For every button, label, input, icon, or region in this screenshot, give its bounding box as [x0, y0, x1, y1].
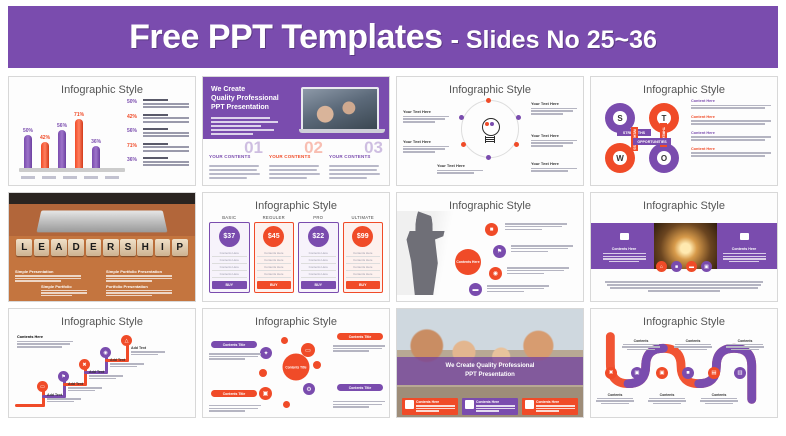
plan-price: $22	[308, 226, 329, 247]
plan-card: $99 Contents Here Contents Here Contents…	[343, 222, 384, 293]
info-card[interactable]: Contents Here	[522, 398, 578, 415]
page-title: Free PPT Templates- Slides No 25~36	[129, 18, 657, 57]
ring-dot	[514, 142, 519, 147]
timeline-icon-4: ■	[682, 367, 694, 379]
cart-icon	[740, 233, 749, 240]
legend-row: 71%	[127, 143, 189, 154]
text-block: Your Text Here	[531, 161, 577, 173]
column-number: 03	[364, 139, 383, 156]
legend-value: 42%	[127, 114, 140, 120]
column-number: 01	[244, 139, 263, 156]
legend-row: 50%	[127, 99, 189, 110]
legend-title: Content Here	[691, 115, 771, 119]
stair-label: Add Text	[131, 346, 165, 355]
ring-dot	[459, 115, 464, 120]
plan-name: PRO	[298, 215, 339, 220]
stair-icon-4: ◉	[100, 347, 111, 358]
shield-icon: ⚑	[493, 245, 506, 258]
bulb-base	[485, 136, 495, 143]
plan-price: $99	[352, 226, 373, 247]
pricing-table: BASIC $37 Contents Here Contents Here Co…	[209, 215, 383, 293]
stair-icon-1: ▭	[37, 381, 48, 392]
slide-thumbnail-radial-hub[interactable]: Infographic Style Contents Title ✦ ▭ ⚙ ▣…	[202, 308, 390, 418]
timeline-label: Contents	[647, 393, 687, 405]
content-columns: 01 YOUR CONTENTS 02 YOUR CONTENTS 03 YOU…	[209, 145, 383, 179]
content-title: Contents Here	[599, 247, 649, 251]
dice-letter: E	[86, 239, 102, 256]
timeline-label: Contents	[699, 393, 739, 405]
timeline-icon-6: ▥	[734, 367, 746, 379]
plan-feature: Contents Here	[257, 271, 292, 278]
legend-row: 56%	[127, 128, 189, 139]
calendar-icon: ■	[671, 261, 682, 272]
chart-category-labels	[21, 176, 119, 179]
dice-letter: I	[155, 239, 171, 256]
timeline-icon-3: ▣	[656, 367, 668, 379]
text-block: Your Text Here	[531, 101, 577, 116]
swot-diagram: S T W O STRENGTHS THREATS WEAKNESS OPPOR…	[605, 103, 679, 173]
pill-label: Contents Title	[337, 333, 383, 340]
legend-row: Content Here	[691, 115, 771, 125]
legend-text	[143, 128, 189, 139]
laptop-image	[301, 87, 379, 133]
dice-letter: R	[103, 239, 119, 256]
plan-name: ULTIMATE	[343, 215, 384, 220]
bulb-glass	[482, 118, 500, 136]
pricing-plan-ultimate[interactable]: ULTIMATE $99 Contents Here Contents Here…	[343, 215, 384, 293]
swot-letter: S	[613, 111, 627, 125]
plan-card: $37 Contents Here Contents Here Contents…	[209, 222, 250, 293]
plan-feature: Contents Here	[257, 264, 292, 271]
dice-letter: L	[16, 239, 32, 256]
slide-thumbnail-wave-timeline[interactable]: Infographic Style ✖ ▣ ▣ ■ ▤ ▥ Contents C…	[590, 308, 778, 418]
plan-feature: Contents Here	[212, 264, 247, 271]
slide-title: Infographic Style	[591, 200, 777, 212]
hub-node: Contents Title	[283, 354, 310, 381]
right-content: Contents Here	[719, 227, 769, 263]
info-card[interactable]: Contents Here	[462, 398, 518, 415]
plan-feature: Contents Here	[212, 250, 247, 257]
pill-text	[209, 405, 261, 413]
slide-thumbnail-leadership[interactable]: L E A D E R S H I P Simple Presentation …	[8, 192, 196, 302]
satellite-dot	[313, 361, 321, 369]
ring-dot	[461, 142, 466, 147]
page-header: Free PPT Templates- Slides No 25~36	[8, 6, 778, 68]
book-icon: ▬	[469, 283, 482, 296]
dice-letter: P	[172, 239, 188, 256]
card-title: Contents Here	[536, 400, 575, 404]
slide-headline: We Create Quality Professional PPT Prese…	[211, 85, 289, 112]
plan-feature: Contents Here	[212, 257, 247, 264]
plan-feature: Contents Here	[346, 250, 381, 257]
node-text	[487, 285, 549, 294]
swot-quadrant-o: O	[649, 143, 679, 173]
plan-feature: Contents Here	[346, 271, 381, 278]
legend-row: Content Here	[691, 99, 771, 109]
bar	[58, 130, 66, 169]
left-content: Contents Here	[599, 227, 649, 263]
plan-feature: Contents Here	[346, 257, 381, 264]
caption-title: Simple Portfolio Presentation	[106, 269, 189, 274]
legend-value: 50%	[127, 99, 140, 105]
slide-thumbnail-stairs[interactable]: Infographic Style Contents Here ▭ ⚑ ✖ ◉ …	[8, 308, 196, 418]
document-icon: ▬	[686, 261, 697, 272]
stair-icon-3: ✖	[79, 359, 90, 370]
pill-text	[209, 353, 261, 361]
stair-label: Add Text	[68, 382, 102, 391]
lightbulb-icon	[482, 118, 498, 140]
tablet-image	[36, 211, 167, 232]
pill-text	[333, 401, 385, 409]
legend-value: 56%	[127, 128, 140, 134]
ring-dot	[486, 155, 491, 160]
plan-price: $37	[219, 226, 240, 247]
slide-title: Infographic Style	[9, 84, 195, 96]
stair-label: Add Text	[110, 358, 144, 367]
stair-label: Add Text	[89, 370, 123, 379]
timeline-label: Contents	[725, 339, 765, 351]
satellite-dot	[281, 337, 288, 344]
plan-name: BASIC	[209, 215, 250, 220]
legend-row: 42%	[127, 114, 189, 125]
plan-name: REGULER	[254, 215, 295, 220]
slide-thumbnail-team-photo[interactable]: We Create Quality Professional PPT Prese…	[396, 308, 584, 418]
legend-row: 36%	[127, 157, 189, 168]
buy-button[interactable]: BUY	[301, 281, 336, 289]
bar-column: 71%	[74, 107, 84, 169]
slide-thumbnail-bar-chart[interactable]: Infographic Style 50% 42% 56% 71% 36% 50…	[8, 76, 196, 186]
leadership-dice-word: L E A D E R S H I P	[16, 239, 187, 256]
bar-value-label: 50%	[23, 128, 33, 134]
caption-title: Simple Portfolio	[41, 284, 98, 289]
buy-button[interactable]: BUY	[257, 281, 292, 289]
plan-feature: Contents Here	[301, 257, 336, 264]
column-number: 02	[304, 139, 323, 156]
monitor-icon: ▣	[259, 387, 272, 400]
bar-column: 50%	[23, 107, 33, 169]
content-column: 02 YOUR CONTENTS	[269, 145, 323, 179]
legend-text	[143, 143, 189, 154]
slide-thumbnail-title-laptop[interactable]: We Create Quality Professional PPT Prese…	[202, 76, 390, 186]
laptop-base	[299, 129, 385, 133]
page-title-sub: - Slides No 25~36	[451, 26, 657, 54]
headline-subtext	[211, 117, 295, 137]
plan-feature: Contents Here	[212, 271, 247, 278]
slide-thumbnail-businessman-hub[interactable]: Infographic Style Contents Here ■ ⚑ ◉ ▬	[396, 192, 584, 302]
caption-title: Simple Presentation	[15, 269, 98, 274]
plan-feature: Contents Here	[301, 250, 336, 257]
dice-letter: S	[120, 239, 136, 256]
timeline-label: Contents	[621, 339, 661, 351]
slide-thumbnail-teamwork-band[interactable]: Infographic Style Contents Here Contents…	[590, 192, 778, 302]
bar-column: 42%	[40, 107, 50, 169]
plan-feature: Contents Here	[257, 257, 292, 264]
caption-title: Portfolio Presentation	[106, 284, 189, 289]
content-column: 01 YOUR CONTENTS	[209, 145, 263, 179]
card-title: Contents Here	[416, 400, 455, 404]
slide-title: Infographic Style	[9, 316, 195, 328]
timeline-label: Contents	[673, 339, 713, 351]
satellite-dot	[283, 401, 290, 408]
slide-title: Infographic Style	[203, 200, 389, 212]
slide-thumbnail-lightbulb[interactable]: Infographic Style Your Text Here Your Te…	[396, 76, 584, 186]
buy-button[interactable]: BUY	[212, 281, 247, 289]
plan-feature: Contents Here	[301, 264, 336, 271]
pill-text	[333, 345, 385, 353]
timeline-icon-2: ▣	[631, 367, 643, 379]
chat-icon	[620, 233, 629, 240]
caption-cell: Simple Portfolio Presentation	[106, 269, 189, 283]
slide-thumbnail-swot[interactable]: Infographic Style S T W O STRENGTHS THRE…	[590, 76, 778, 186]
pill-label: Contents Title	[337, 384, 383, 391]
node-text	[511, 245, 573, 254]
pricing-plan-pro[interactable]: PRO $22 Contents Here Contents Here Cont…	[298, 215, 339, 293]
swot-letter: O	[657, 151, 671, 165]
target-icon: ◉	[489, 267, 502, 280]
gear-icon: ⚙	[303, 383, 315, 395]
timeline-icon-1: ✖	[605, 367, 617, 379]
intro-block: Contents Here	[17, 335, 73, 349]
legend-title: Content Here	[691, 147, 771, 151]
card-icon	[465, 400, 474, 409]
slide-title: Infographic Style	[397, 84, 583, 96]
pill-label: Contents Title	[211, 390, 257, 397]
stair-icon-5: △	[121, 335, 132, 346]
text-block: Your Text Here	[403, 109, 449, 124]
card-title: Contents Here	[476, 400, 515, 404]
dice-letter: H	[137, 239, 153, 256]
footer-text	[605, 281, 763, 293]
card-icon	[525, 400, 534, 409]
bar	[92, 146, 100, 169]
dice-letter: E	[34, 239, 50, 256]
hub-node: Contents Here	[455, 249, 481, 275]
timeline-icon-5: ▤	[708, 367, 720, 379]
chart-baseline	[19, 168, 125, 172]
caption-cell: Simple Presentation	[15, 269, 98, 283]
bar-value-label: 71%	[74, 112, 84, 118]
node-text	[507, 267, 569, 276]
legend-value: 36%	[127, 157, 140, 163]
text-block: Your Text Here	[437, 163, 483, 175]
plan-card: $22 Contents Here Contents Here Contents…	[298, 222, 339, 293]
legend-title: Content Here	[691, 131, 771, 135]
text-block: Your Text Here	[531, 133, 577, 148]
handshake-photo	[303, 89, 377, 131]
legend-row: Content Here	[691, 147, 771, 157]
bar-chart-plot: 50% 42% 56% 71% 36%	[23, 107, 101, 169]
card-icon	[405, 400, 414, 409]
chart-icon: ▣	[701, 261, 712, 272]
intro-title: Contents Here	[17, 335, 73, 339]
ring-dot	[516, 115, 521, 120]
slide-title: Infographic Style	[203, 316, 389, 328]
briefcase-icon: ■	[485, 223, 498, 236]
plan-card: $45 Contents Here Contents Here Contents…	[254, 222, 295, 293]
legend-text	[143, 99, 189, 110]
info-card[interactable]: Contents Here	[402, 398, 458, 415]
slide-thumbnail-pricing[interactable]: Infographic Style BASIC $37 Contents Her…	[202, 192, 390, 302]
card-row: Contents Here Contents Here Contents Her…	[402, 398, 578, 415]
plan-price: $45	[263, 226, 284, 247]
timeline-label: Contents	[595, 393, 635, 405]
briefcase-icon: ▭	[301, 343, 315, 357]
text-block: Your Text Here	[403, 139, 449, 154]
caption-cell: Simple Portfolio	[15, 284, 98, 298]
bar-value-label: 36%	[91, 139, 101, 145]
legend-text	[143, 114, 189, 125]
icon-row: ⌂ ■ ▬ ▣	[656, 261, 712, 272]
bar-value-label: 56%	[57, 123, 67, 129]
bar	[41, 142, 49, 169]
bar	[75, 119, 83, 169]
node-text	[505, 223, 567, 232]
plan-feature: Contents Here	[257, 250, 292, 257]
headline-band: We Create Quality Professional PPT Prese…	[397, 357, 583, 385]
content-title: Contents Here	[719, 247, 769, 251]
chart-legend: 50% 42% 56% 71% 36%	[127, 99, 189, 172]
slide-title: Infographic Style	[591, 84, 777, 96]
buy-button[interactable]: BUY	[346, 281, 381, 289]
legend-value: 71%	[127, 143, 140, 149]
caption-grid: Simple Presentation Simple Portfolio Pre…	[15, 269, 189, 297]
bar-column: 36%	[91, 107, 101, 169]
bar	[24, 135, 32, 169]
stair-arm	[15, 404, 45, 407]
legend-row: Content Here	[691, 131, 771, 141]
stair-icon-2: ⚑	[58, 371, 69, 382]
pricing-plan-basic[interactable]: BASIC $37 Contents Here Contents Here Co…	[209, 215, 250, 293]
slide-headline: We Create Quality Professional PPT Prese…	[446, 362, 535, 380]
dice-letter: A	[51, 239, 67, 256]
satellite-dot	[259, 369, 267, 377]
swot-letter: W	[613, 151, 627, 165]
pricing-plan-reguler[interactable]: REGULER $45 Contents Here Contents Here …	[254, 215, 295, 293]
plan-feature: Contents Here	[301, 271, 336, 278]
swot-legend: Content Here Content Here Content Here C…	[691, 99, 771, 163]
bar-value-label: 42%	[40, 135, 50, 141]
caption-cell: Portfolio Presentation	[106, 284, 189, 298]
stair-label: Add Text	[47, 393, 81, 402]
page-title-main: Free PPT Templates	[129, 18, 443, 56]
ring-dot	[486, 98, 491, 103]
dice-letter: D	[68, 239, 84, 256]
legend-text	[143, 157, 189, 168]
home-icon: ⌂	[656, 261, 667, 272]
bar-column: 56%	[57, 107, 67, 169]
pill-label: Contents Title	[211, 341, 257, 348]
rocket-icon: ✦	[260, 347, 272, 359]
legend-title: Content Here	[691, 99, 771, 103]
plan-feature: Contents Here	[346, 264, 381, 271]
slide-thumbnail-grid: Infographic Style 50% 42% 56% 71% 36% 50…	[8, 76, 778, 418]
content-column: 03 YOUR CONTENTS	[329, 145, 383, 179]
swot-label-opportunities: OPPORTUNITIES	[633, 138, 671, 145]
